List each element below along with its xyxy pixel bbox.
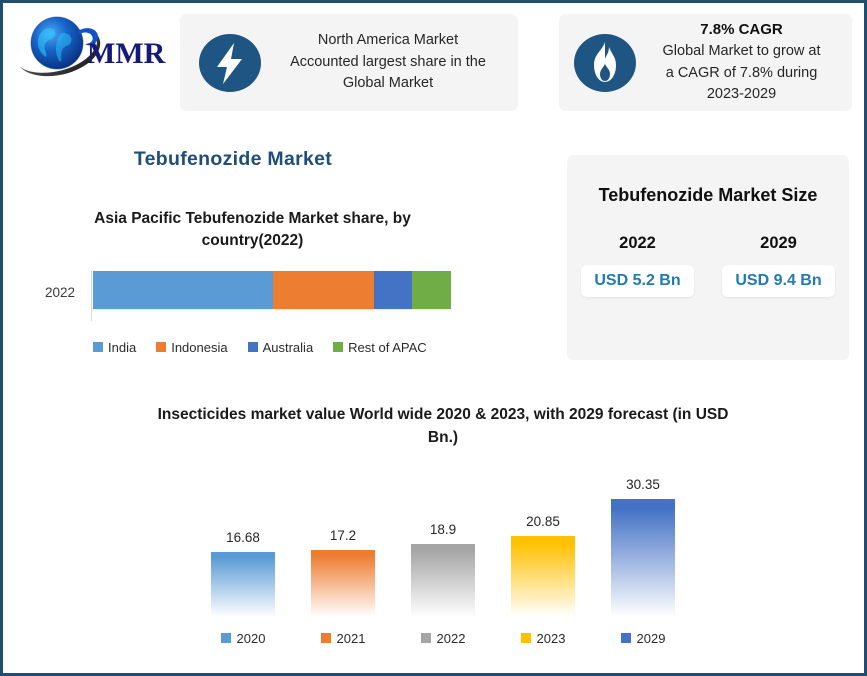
bar-2023 <box>511 536 575 617</box>
lightning-bolt-icon <box>194 30 266 96</box>
stacked-chart-legend: IndiaIndonesiaAustraliaRest of APAC <box>25 340 480 355</box>
market-size-year-2029: 2029 <box>760 234 797 252</box>
legend-item: 2021 <box>293 631 393 646</box>
callout-north-america-text: North America Market Accounted largest s… <box>266 30 510 94</box>
market-size-panel: Tebufenozide Market Size 2022 2029 USD 5… <box>567 155 849 360</box>
chart-title-asia-pacific: Asia Pacific Tebufenozide Market share, … <box>43 208 463 253</box>
bar-value-label: 17.2 <box>330 528 356 543</box>
page-title: Tebufenozide Market <box>63 148 403 171</box>
insecticides-market-value-chart: Insecticides market value World wide 202… <box>123 403 763 646</box>
callout-cagr-heading: 7.8% CAGR <box>645 19 838 41</box>
legend-swatch-icon <box>156 342 166 352</box>
market-size-year-col: 2022 <box>567 234 708 253</box>
legend-label: 2023 <box>537 631 566 646</box>
legend-label: Indonesia <box>171 340 227 355</box>
mmr-logo: MMR <box>15 11 175 83</box>
callout-cagr-line1: Global Market to grow at <box>663 43 821 59</box>
stacked-axis-label: 2022 <box>45 285 75 300</box>
bar-2022 <box>411 544 475 617</box>
market-size-year-col: 2029 <box>708 234 849 253</box>
bar-column: 20.85 <box>493 462 593 617</box>
flame-icon <box>569 30 641 96</box>
bar-2021 <box>311 550 375 617</box>
legend-item: Rest of APAC <box>333 340 427 355</box>
legend-label: India <box>108 340 136 355</box>
legend-label: 2029 <box>637 631 666 646</box>
stacked-axis-line <box>91 271 92 321</box>
callout-na-line3: Global Market <box>343 75 433 91</box>
legend-swatch-icon <box>621 633 631 643</box>
asia-pacific-share-chart: Asia Pacific Tebufenozide Market share, … <box>25 208 480 355</box>
legend-item: 2022 <box>393 631 493 646</box>
legend-swatch-icon <box>521 633 531 643</box>
legend-item: India <box>93 340 136 355</box>
market-size-title: Tebufenozide Market Size <box>567 185 849 206</box>
bar-value-label: 16.68 <box>226 530 260 545</box>
globe-icon: MMR <box>15 11 175 83</box>
callout-cagr-line2: a CAGR of 7.8% during <box>666 65 818 81</box>
legend-swatch-icon <box>248 342 258 352</box>
market-size-value-col: USD 5.2 Bn <box>567 265 708 297</box>
bar-column: 30.35 <box>593 462 693 617</box>
bar-chart-legend: 20202021202220232029 <box>123 631 763 646</box>
infographic-canvas: MMR North America Market Accounted large… <box>0 0 867 676</box>
bar-value-label: 18.9 <box>430 522 456 537</box>
legend-label: Rest of APAC <box>348 340 427 355</box>
callout-na-line1: North America Market <box>318 32 458 48</box>
market-size-value-col: USD 9.4 Bn <box>708 265 849 297</box>
legend-label: 2020 <box>237 631 266 646</box>
stacked-bar-plot: 2022 <box>25 271 480 326</box>
legend-label: Australia <box>263 340 314 355</box>
callout-north-america: North America Market Accounted largest s… <box>180 14 518 111</box>
legend-item: 2029 <box>593 631 693 646</box>
logo-text: MMR <box>87 37 166 70</box>
legend-label: 2022 <box>437 631 466 646</box>
callout-cagr-text: 7.8% CAGR Global Market to grow at a CAG… <box>641 19 842 106</box>
stacked-segment-australia <box>374 271 412 309</box>
legend-item: 2020 <box>193 631 293 646</box>
bar-value-label: 30.35 <box>626 477 660 492</box>
market-size-value-2029: USD 9.4 Bn <box>722 265 834 297</box>
market-size-values: USD 5.2 Bn USD 9.4 Bn <box>567 265 849 297</box>
stacked-segment-rest-of-apac <box>412 271 451 309</box>
market-size-years: 2022 2029 <box>567 234 849 253</box>
legend-item: Indonesia <box>156 340 227 355</box>
bar-2029 <box>611 499 675 617</box>
market-size-value-2022: USD 5.2 Bn <box>581 265 693 297</box>
market-size-year-2022: 2022 <box>619 234 656 252</box>
legend-item: 2023 <box>493 631 593 646</box>
stacked-segment-indonesia <box>273 271 374 309</box>
bar-value-label: 20.85 <box>526 514 560 529</box>
legend-swatch-icon <box>333 342 343 352</box>
callout-cagr-line3: 2023-2029 <box>707 86 776 102</box>
bar-2020 <box>211 552 275 617</box>
bar-column: 17.2 <box>293 462 393 617</box>
callout-na-line2: Accounted largest share in the <box>290 54 486 70</box>
legend-swatch-icon <box>421 633 431 643</box>
chart-title-insecticides: Insecticides market value World wide 202… <box>143 403 743 450</box>
legend-item: Australia <box>248 340 314 355</box>
stacked-bar <box>93 271 451 309</box>
legend-swatch-icon <box>221 633 231 643</box>
legend-label: 2021 <box>337 631 366 646</box>
bar-chart-plot: 16.6817.218.920.8530.35 <box>123 462 763 617</box>
bar-column: 16.68 <box>193 462 293 617</box>
legend-swatch-icon <box>93 342 103 352</box>
legend-swatch-icon <box>321 633 331 643</box>
bar-column: 18.9 <box>393 462 493 617</box>
stacked-segment-india <box>93 271 273 309</box>
callout-cagr: 7.8% CAGR Global Market to grow at a CAG… <box>559 14 852 111</box>
